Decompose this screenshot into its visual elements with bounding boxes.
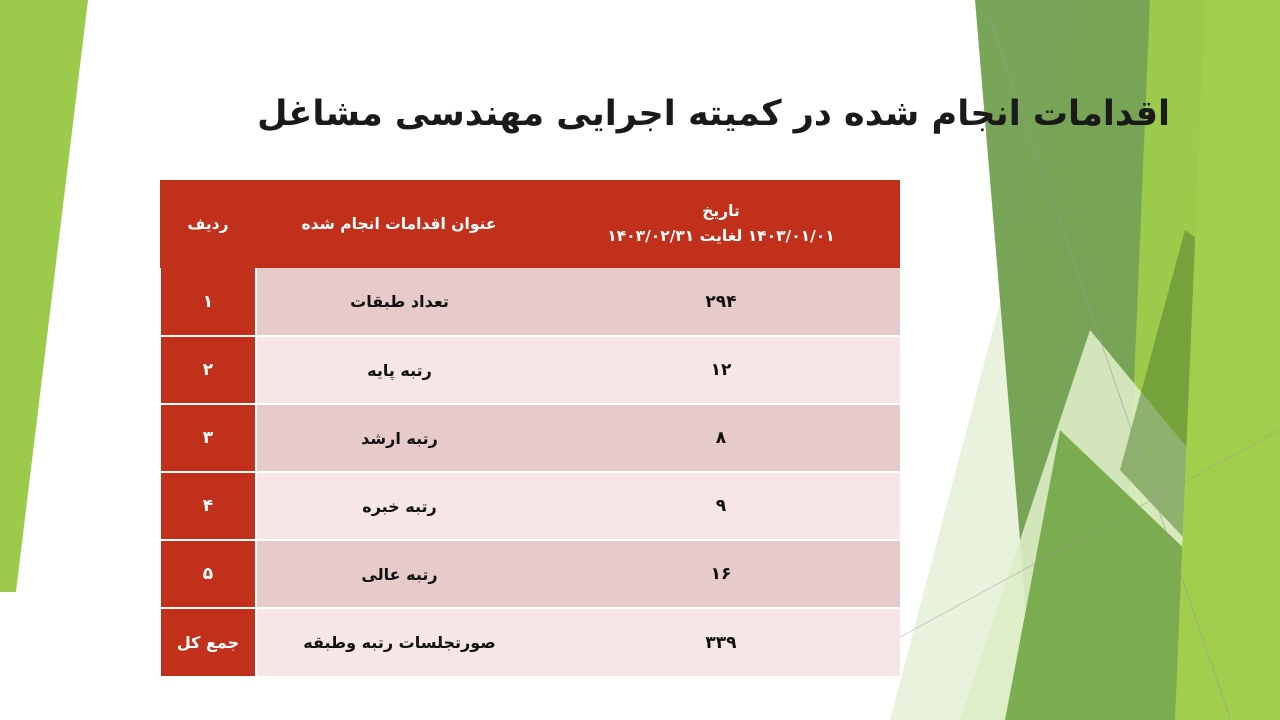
cell-title: رتبه ارشد [256,404,542,472]
cell-value: ۱۶ [542,540,900,608]
table-row: ۸ رتبه ارشد ۳ [160,404,900,472]
cell-title: تعداد طبقات [256,268,542,336]
cell-value: ۲۹۴ [542,268,900,336]
hairline-diagonal-lower [880,430,1280,648]
table-header-row: تاریخ ۱۴۰۳/۰۱/۰۱ لغایت ۱۴۰۳/۰۲/۳۱ عنوان … [160,180,900,268]
column-header-title: عنوان اقدامات انجام شده [256,180,542,268]
cell-index: ۱ [160,268,256,336]
left-green-wedge [0,0,88,592]
cell-title: رتبه عالی [256,540,542,608]
column-header-date-label: تاریخ [542,199,900,224]
column-header-date-range: ۱۴۰۳/۰۱/۰۱ لغایت ۱۴۰۳/۰۲/۳۱ [542,224,900,249]
table-total-row: ۳۳۹ صورتجلسات رتبه وطبقه جمع کل [160,608,900,676]
cell-title: رتبه پایه [256,336,542,404]
cell-index: ۵ [160,540,256,608]
actions-table-container: تاریخ ۱۴۰۳/۰۱/۰۱ لغایت ۱۴۰۳/۰۲/۳۱ عنوان … [160,180,900,676]
cell-total-title: صورتجلسات رتبه وطبقه [256,608,542,676]
presentation-slide: اقدامات انجام شده در کمیته اجرایی مهندسی… [0,0,1280,720]
table-row: ۹ رتبه خبره ۴ [160,472,900,540]
column-header-index: ردیف [160,180,256,268]
cell-value: ۱۲ [542,336,900,404]
right-green-shape-bright-b [1175,0,1280,720]
right-green-shape-dark [1120,230,1280,640]
table-body: ۲۹۴ تعداد طبقات ۱ ۱۲ رتبه پایه ۲ ۸ رتبه … [160,268,900,676]
actions-table: تاریخ ۱۴۰۳/۰۱/۰۱ لغایت ۱۴۰۳/۰۲/۳۱ عنوان … [159,180,900,676]
cell-index: ۳ [160,404,256,472]
cell-total-label: جمع کل [160,608,256,676]
cell-total-value: ۳۳۹ [542,608,900,676]
table-row: ۱۲ رتبه پایه ۲ [160,336,900,404]
cell-index: ۲ [160,336,256,404]
page-title: اقدامات انجام شده در کمیته اجرایی مهندسی… [270,91,1170,138]
table-header: تاریخ ۱۴۰۳/۰۱/۰۱ لغایت ۱۴۰۳/۰۲/۳۱ عنوان … [160,180,900,268]
cell-value: ۸ [542,404,900,472]
column-header-date: تاریخ ۱۴۰۳/۰۱/۰۱ لغایت ۱۴۰۳/۰۲/۳۱ [542,180,900,268]
right-green-shape-mid-b [1005,430,1280,720]
table-row: ۱۶ رتبه عالی ۵ [160,540,900,608]
cell-value: ۹ [542,472,900,540]
cell-index: ۴ [160,472,256,540]
cell-title: رتبه خبره [256,472,542,540]
table-row: ۲۹۴ تعداد طبقات ۱ [160,268,900,336]
right-green-shape-pale-b [960,330,1280,720]
